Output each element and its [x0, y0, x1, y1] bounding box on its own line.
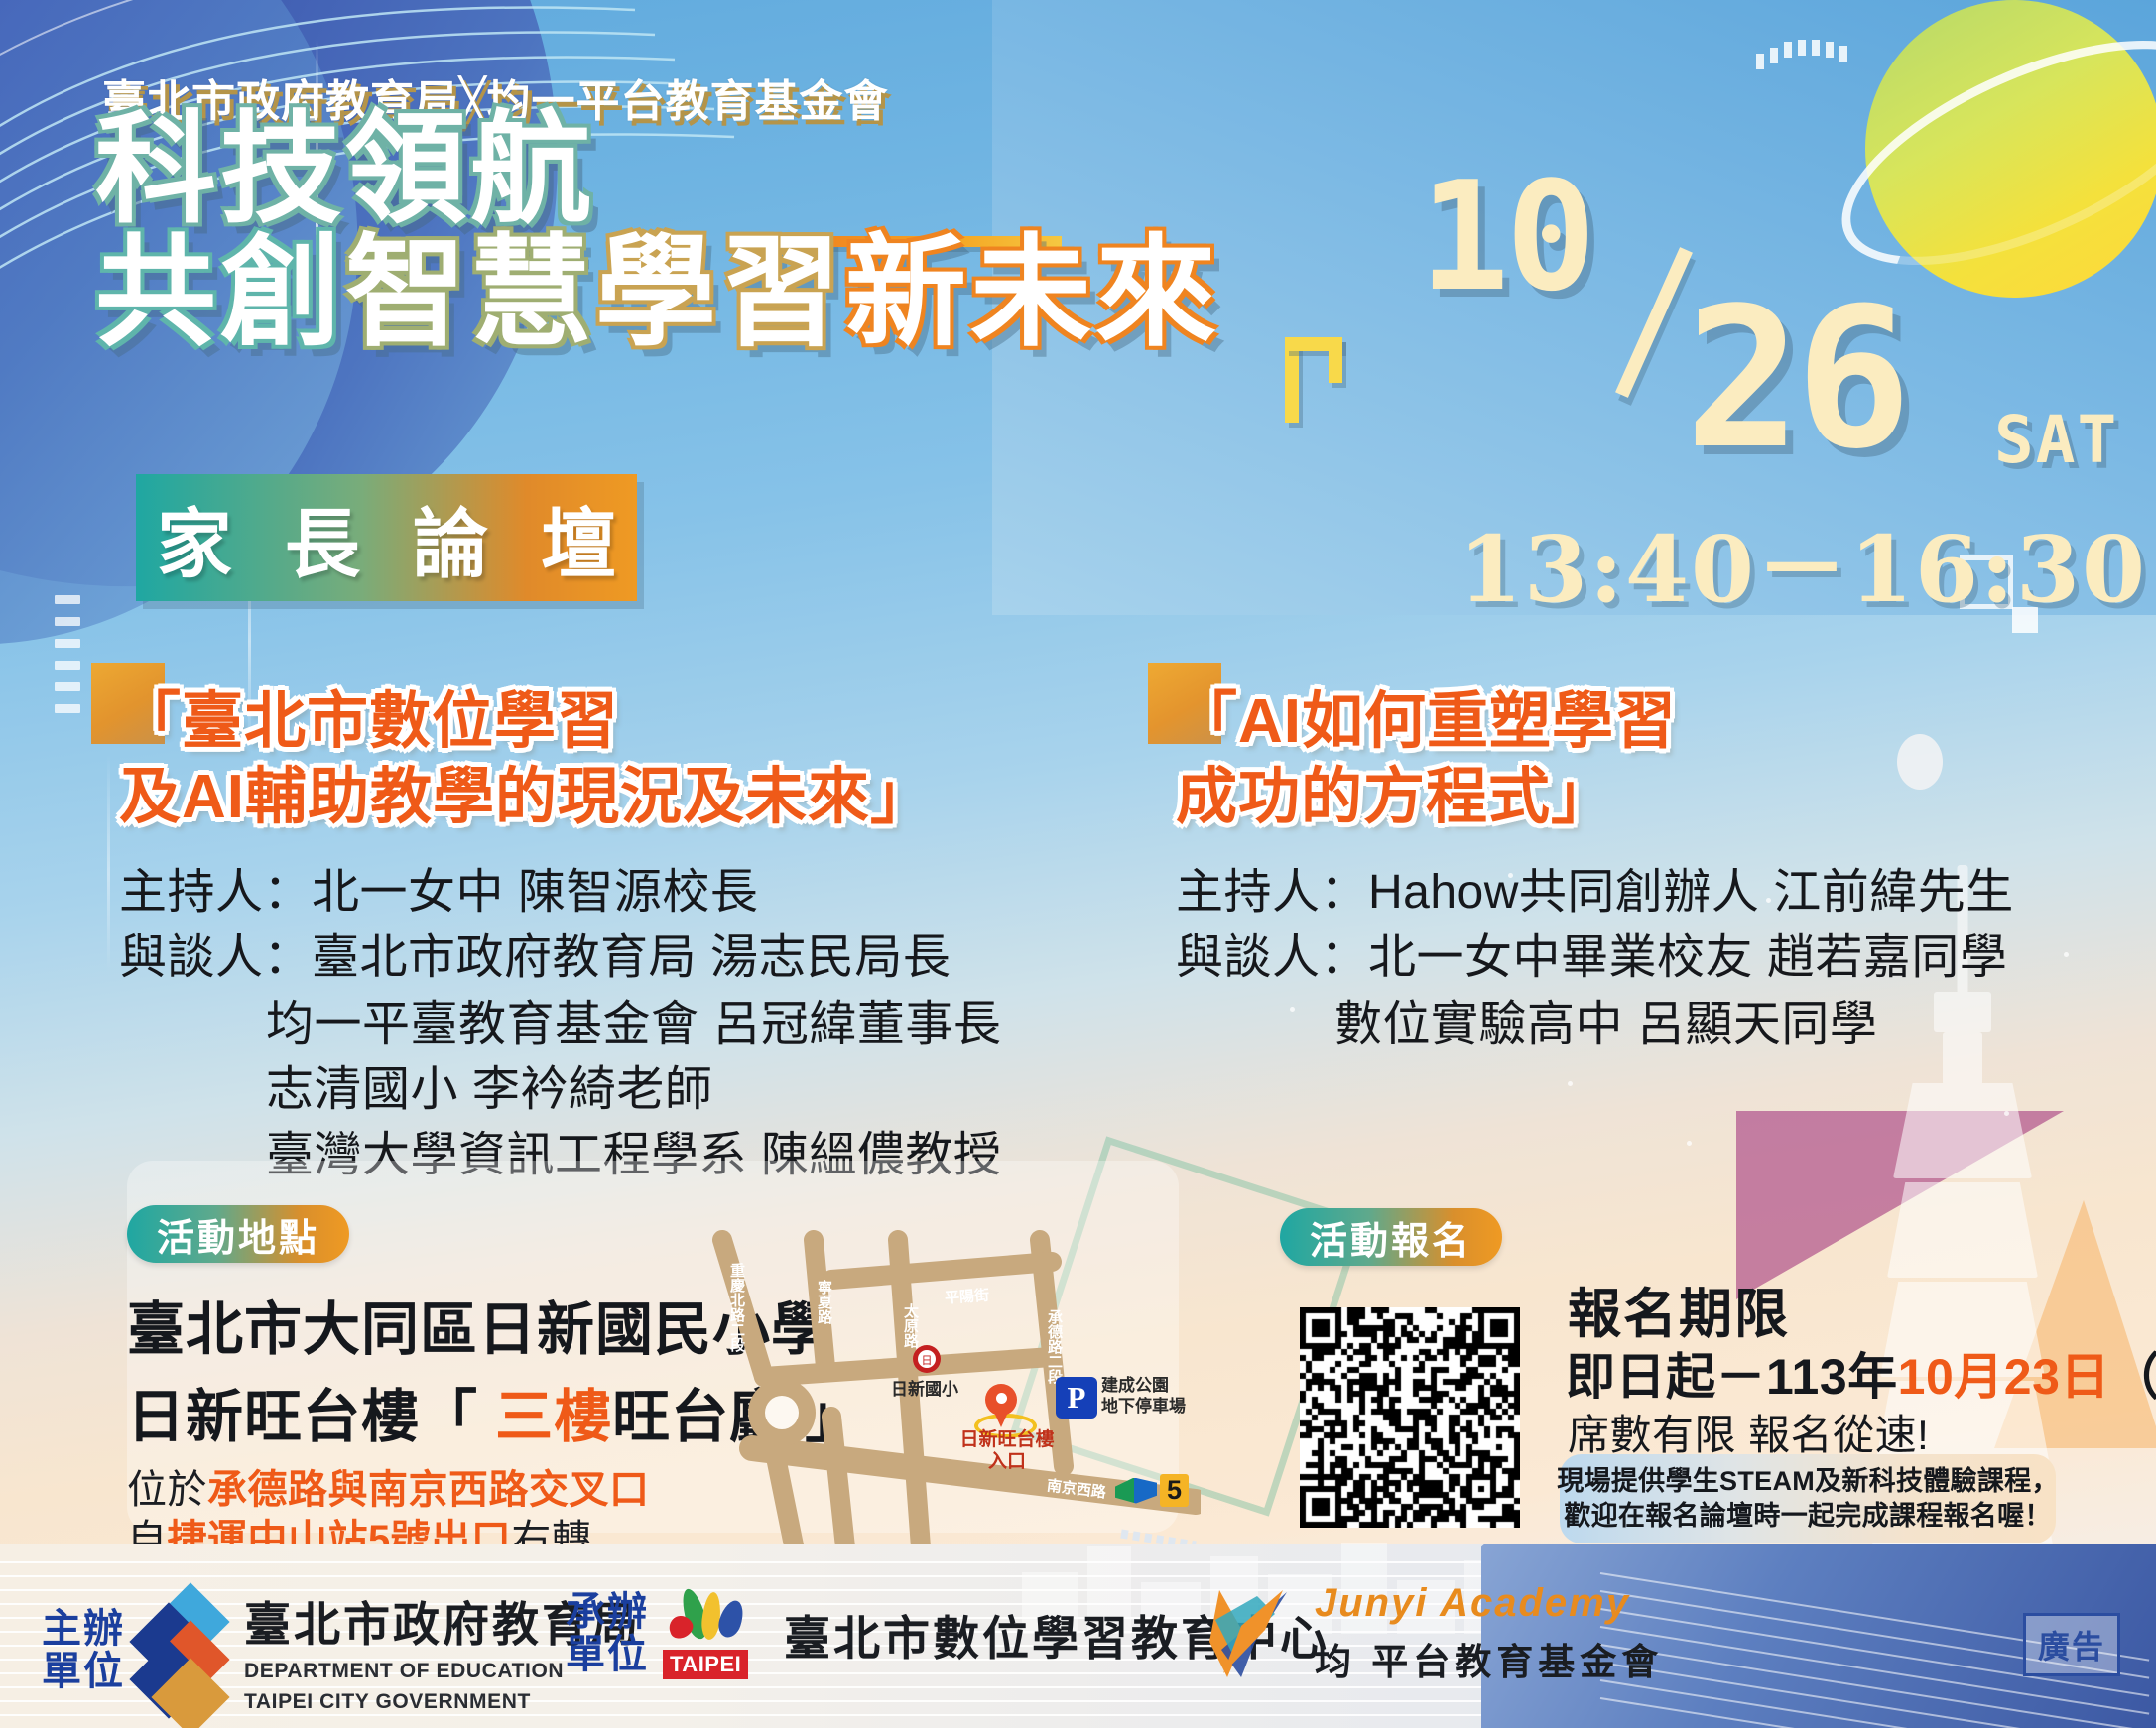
map-poi-venue-l2: 入口 — [949, 1451, 1066, 1473]
footer-host-group: 主辦 單位 臺北市政府教育局 DEPARTMENT OF EDUCATION T… — [42, 1586, 641, 1715]
session-right-title-line1: 「AI如何重塑學習 — [1176, 684, 2049, 760]
footer-host-role: 主辦 單位 — [42, 1608, 125, 1693]
map-poi-parking-l1: 建成公園 — [1101, 1375, 1186, 1396]
session-right-people: 主持人：Hahow共同創辦人 江前緯先生 與談人：北一女中畢業校友 趙若嘉同學 … — [1176, 860, 2049, 1057]
session-left-line-0: 主持人：北一女中 陳智源校長 — [119, 860, 1141, 926]
footer-junyi-name: Junyi Academy 均 平台教育基金會 — [1315, 1581, 1663, 1685]
junyi-logo-icon — [1205, 1580, 1301, 1685]
session-left-title: 「臺北市數位學習 及AI輔助教學的現況及未來」 — [119, 684, 1141, 834]
venue-dir-1-pre: 位於 — [127, 1468, 207, 1512]
map-poi-venue: 日新旺台樓 入口 — [949, 1429, 1066, 1473]
footer-junyi-en: Junyi Academy — [1315, 1581, 1663, 1626]
map-street-chongqing: 重慶北路二段 — [726, 1263, 747, 1352]
reg-date-highlight: 10月23日 — [1898, 1349, 2110, 1405]
footer-host-role-l2: 單位 — [42, 1651, 125, 1693]
footer-co-role-l2: 單位 — [566, 1634, 649, 1676]
footer-junyi-group: Junyi Academy 均 平台教育基金會 — [1196, 1580, 1663, 1685]
venue-l2-highlight: 三樓 — [495, 1385, 612, 1449]
event-poster: 臺北市政府教育局╳均一平台教育基金會 科技領航 共創智慧學習新未來 家 長 論 … — [0, 0, 2156, 1728]
metro-logo-icon — [1115, 1478, 1157, 1504]
main-title-line2: 共創智慧學習新未來 — [95, 232, 1220, 353]
session-left-people: 主持人：北一女中 陳智源校長 與談人：臺北市政府教育局 湯志民局長 均一平臺教育… — [119, 860, 1141, 1188]
registration-note: 席數有限 報名從速! — [1568, 1402, 1929, 1462]
footer-junyi-cn: 平台教育基金會 — [1371, 1642, 1663, 1682]
date-slash-icon — [1615, 247, 1693, 398]
footer-host-name-en2: TAIPEI CITY GOVERNMENT — [244, 1688, 641, 1716]
title2-part-3: 學習 — [595, 232, 845, 353]
session-right-line-1: 與談人：北一女中畢業校友 趙若嘉同學 — [1176, 926, 2049, 991]
venue-pill: 活動地點 — [127, 1205, 349, 1263]
forum-badge: 家 長 論 壇 — [136, 474, 637, 601]
doe-logo-icon — [147, 1596, 226, 1705]
taipei-logo-icon: TAIPEI — [663, 1588, 770, 1679]
taipei-wordmark: TAIPEI — [663, 1650, 748, 1679]
session-left-title-line2: 及AI輔助教學的現況及未來」 — [119, 760, 1141, 835]
title2-part-2: 智慧 — [345, 232, 595, 353]
event-date-block: 10 26 SAT — [1419, 149, 2034, 476]
footer-co-role-l1: 承辦 — [566, 1591, 649, 1634]
date-month: 10 — [1419, 149, 1592, 324]
footer-junyi-cn-row: 均 平台教育基金會 — [1315, 1632, 1663, 1685]
date-day: 26 — [1685, 266, 1906, 491]
school-badge-icon: 日 — [911, 1343, 943, 1375]
registration-pill: 活動報名 — [1280, 1208, 1502, 1266]
forum-badge-label: 家 長 論 壇 — [141, 483, 632, 592]
registration-callout-l1: 現場提供學生STEAM及新科技體驗課程， — [1557, 1464, 2059, 1499]
map-poi-venue-l1: 日新旺台樓 — [949, 1429, 1066, 1451]
map-poi-parking: 建成公園 地下停車場 — [1101, 1375, 1186, 1418]
registration-callout: 現場提供學生STEAM及新科技體驗課程， 歡迎在報名論壇時一起完成課程報名喔！ — [1560, 1454, 2056, 1543]
session-right-line-0: 主持人：Hahow共同創辦人 江前緯先生 — [1176, 860, 2049, 926]
map-pin-venue — [985, 1384, 1017, 1427]
map-poi-school: 日新國小 — [891, 1375, 958, 1400]
reg-date-post: （三） — [2110, 1349, 2156, 1405]
map-street-chengde: 承德路二段 — [1044, 1309, 1065, 1384]
reg-date-pre: 即日起－113年 — [1566, 1349, 1898, 1405]
main-title-line1: 科技領航 — [95, 109, 595, 230]
session-right-title-line2: 成功的方程式」 — [1176, 760, 2049, 835]
session-right: 「AI如何重塑學習 成功的方程式」 主持人：Hahow共同創辦人 江前緯先生 與… — [1176, 684, 2049, 1057]
registration-card: 活動報名 報名期限 即日起－113年10月23日（三） 席數有限 報名從速! 現… — [1280, 1208, 2064, 1545]
parking-icon: P — [1056, 1377, 1097, 1419]
session-left-line-1: 與談人：臺北市政府教育局 湯志民局長 — [119, 926, 1141, 991]
date-weekday: SAT — [1994, 402, 2118, 478]
session-left-title-line1: 「臺北市數位學習 — [119, 684, 1141, 760]
map-street-ningxia: 寧夏路 — [814, 1280, 834, 1324]
footer-co-role: 承辦 單位 — [566, 1591, 649, 1676]
ad-badge: 廣告 — [2023, 1613, 2120, 1676]
event-time: 13:40－16:30 — [1458, 496, 2147, 628]
svg-text:日: 日 — [922, 1355, 933, 1367]
title2-part-4: 新未來 — [845, 232, 1220, 353]
venue-l2-pre: 日新旺台樓「 — [127, 1385, 495, 1449]
registration-qr-code[interactable] — [1300, 1307, 1520, 1528]
session-left: 「臺北市數位學習 及AI輔助教學的現況及未來」 主持人：北一女中 陳智源校長 與… — [119, 684, 1141, 1188]
map-street-taiyuan: 太原路 — [900, 1303, 921, 1348]
quote-bracket-icon — [1285, 337, 1346, 423]
registration-deadline: 即日起－113年10月23日（三） — [1566, 1337, 2156, 1409]
title2-part-1: 共創 — [95, 232, 345, 353]
session-right-line-2: 數位實驗高中 呂顯天同學 — [1176, 992, 2049, 1057]
footer-host-role-l1: 主辦 — [42, 1608, 125, 1651]
map-poi-parking-l2: 地下停車場 — [1101, 1396, 1186, 1417]
footer: 主辦 單位 臺北市政府教育局 DEPARTMENT OF EDUCATION T… — [0, 1544, 2156, 1728]
map-street-pingyang: 平陽街 — [944, 1284, 989, 1307]
footer-junyi-glyph: 均 — [1315, 1642, 1356, 1682]
registration-callout-l2: 歡迎在報名論壇時一起完成課程報名喔！ — [1564, 1499, 2051, 1534]
session-left-line-2: 均一平臺教育基金會 呂冠緯董事長 — [119, 992, 1141, 1057]
venue-dir-1-hl: 承德路與南京西路交叉口 — [207, 1468, 650, 1512]
metro-exit-number: 5 — [1160, 1474, 1189, 1507]
session-left-line-3: 志清國小 李衿綺老師 — [119, 1057, 1141, 1123]
metro-exit-marker: 5 — [1115, 1474, 1189, 1507]
location-map: 重慶北路二段 寧夏路 太原路 平陽街 承德路二段 南京西路 日 日新國小 日新旺… — [695, 1218, 1201, 1547]
session-right-title: 「AI如何重塑學習 成功的方程式」 — [1176, 684, 2049, 834]
